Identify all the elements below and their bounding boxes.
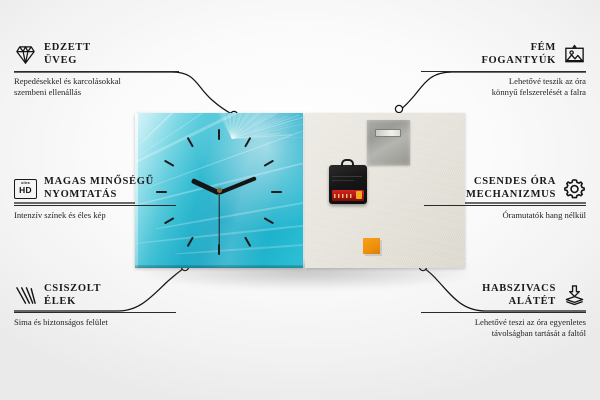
callout-rule [14,71,179,72]
foam-pad [363,238,380,254]
metal-hanger-plate [367,120,410,165]
callout-description: Óramutatók hang nélkül [424,210,586,221]
minute-hand [218,176,257,195]
product-image [135,113,465,270]
movement-seam [332,176,362,177]
callout-title: EDZETTÜVEG [44,42,91,67]
callout-metal-handles: FÉMFOGANTYÚK Lehetővé teszik az órakönny… [421,42,586,98]
battery [332,190,364,201]
callout-head: EDZETTÜVEG [14,42,179,67]
callout-head: ultra HD MAGAS MINŐSÉGŰNYOMTATÁS [14,176,176,201]
callout-head: HABSZIVACSALÁTÉT [421,283,586,308]
callout-title: HABSZIVACSALÁTÉT [482,283,556,308]
diamond-icon [14,43,37,66]
callout-description: Intenzív színek és éles kép [14,210,176,221]
callout-head: FÉMFOGANTYÚK [421,42,586,67]
callout-description: Sima és biztonságos felület [14,317,176,328]
callout-rule [421,71,586,72]
callout-high-quality-print: ultra HD MAGAS MINŐSÉGŰNYOMTATÁS Intenzí… [14,176,176,221]
callout-title: CSENDES ÓRAMECHANIZMUS [466,176,556,201]
callout-silent-mechanism: CSENDES ÓRAMECHANIZMUS Óramutatók hang n… [424,176,586,221]
movement-seam-2 [332,180,354,181]
quartz-movement [329,165,367,204]
callout-description: Lehetővé teszik az órakönnyű felszerelés… [421,76,586,98]
callout-title: FÉMFOGANTYÚK [481,42,556,67]
callout-rule [424,205,586,206]
ultra-hd-large-label: HD [19,186,32,194]
callout-head: CSENDES ÓRAMECHANIZMUS [424,176,586,201]
callout-rule [421,312,586,313]
callout-rule [14,312,176,313]
callout-foam-pad: HABSZIVACSALÁTÉT Lehetővé teszi az óra e… [421,283,586,339]
callout-title: MAGAS MINŐSÉGŰNYOMTATÁS [44,176,154,201]
callout-title: CSISZOLTÉLEK [44,283,101,308]
clock-tick [219,191,220,192]
polished-edge-icon [14,284,37,307]
callout-tempered-glass: EDZETTÜVEG Repedésekkel és karcolásokkal… [14,42,179,98]
infographic-canvas: EDZETTÜVEG Repedésekkel és karcolásokkal… [0,0,600,400]
callout-rule [14,205,176,206]
gear-icon [563,177,586,200]
ultra-hd-icon: ultra HD [14,179,37,199]
callout-head: CSISZOLTÉLEK [14,283,176,308]
panel-edge-bottom [135,265,303,268]
second-hand [218,191,219,247]
battery-plus-terminal [356,191,362,199]
callout-description: Lehetővé teszi az óra egyenletestávolság… [421,317,586,339]
callout-description: Repedésekkel és karcolásokkalszembeni el… [14,76,179,98]
battery-bands [334,194,354,198]
callout-polished-edges: CSISZOLTÉLEK Sima és biztonságos felület [14,283,176,328]
movement-loop [341,159,354,167]
foam-pad-icon [563,284,586,307]
wall-frame-icon [563,43,586,66]
hour-hand [191,178,220,195]
